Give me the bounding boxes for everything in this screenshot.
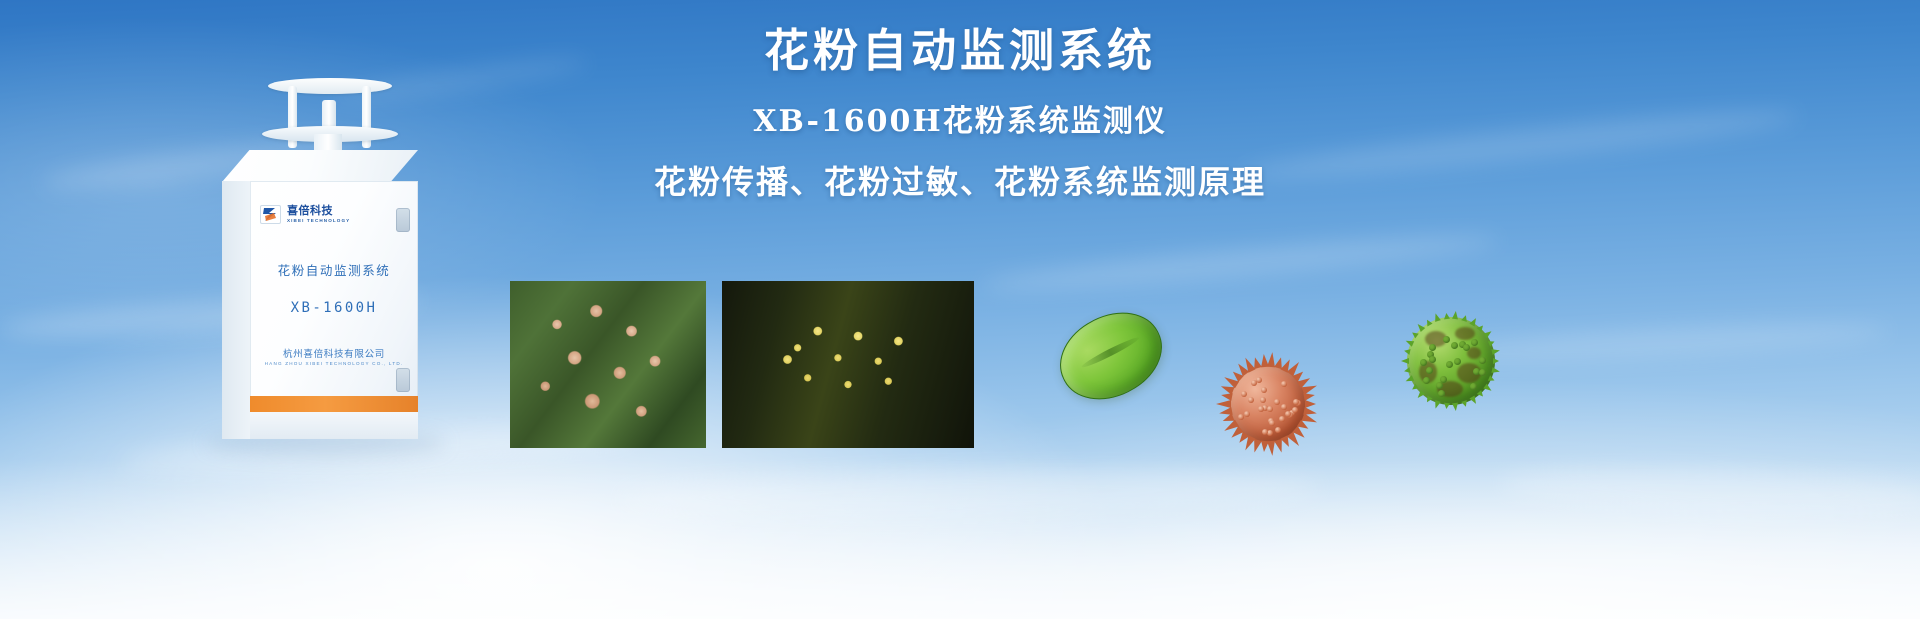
pollen-spike — [1403, 348, 1410, 355]
yellow-catkin-photo — [722, 281, 974, 448]
pollen-surface-bump — [1479, 369, 1486, 376]
pollen-surface-bump — [1446, 361, 1453, 368]
pollen-spike — [1483, 383, 1493, 393]
pollen-surface-bump — [1241, 391, 1247, 397]
pollen-surface-bump — [1269, 420, 1275, 426]
cloud-wisp — [980, 227, 1500, 298]
pollen-surface-bump — [1479, 357, 1486, 364]
banner-tagline: 花粉传播、花粉过敏、花粉系统监测原理 — [560, 162, 1360, 202]
pollen-surface-bump — [1438, 390, 1445, 397]
cabinet-latch-icon[interactable] — [396, 208, 410, 232]
device-company-cn: 杭州喜倍科技有限公司 — [250, 346, 418, 360]
pollen-surface-bump — [1258, 406, 1264, 412]
cabinet-latch-icon[interactable] — [396, 368, 410, 392]
air-intake-stack-icon — [268, 78, 392, 94]
pollen-spike — [1415, 390, 1425, 400]
pollen-surface-bump — [1443, 336, 1450, 343]
pollen-spike — [1452, 402, 1459, 411]
pollen-spike — [1403, 367, 1410, 374]
pollen-surface-bump — [1267, 430, 1273, 436]
device-model: XB-1600H — [250, 300, 418, 316]
pollen-surface-bump — [1248, 397, 1254, 403]
pollen-surface-bump — [1279, 416, 1285, 422]
pollen-furrow — [1080, 335, 1141, 371]
pollen-surface-bump — [1463, 344, 1470, 351]
cabinet-top-panel — [222, 150, 418, 182]
brand-logo: 喜倍科技 XIBEI TECHNOLOGY — [260, 205, 350, 224]
pollen-spike — [1488, 339, 1496, 347]
pollen-surface-bump — [1285, 411, 1291, 417]
pollen-surface-bump — [1293, 399, 1299, 405]
banner-title: 花粉自动监测系统 — [560, 24, 1360, 78]
brand-logo-text: 喜倍科技 XIBEI TECHNOLOGY — [287, 205, 350, 223]
pollen-spike — [1477, 390, 1485, 398]
red-spiky-pollen-grain — [1216, 352, 1320, 456]
pollen-spike — [1401, 358, 1409, 364]
pollen-spike — [1491, 348, 1500, 356]
pollen-spike — [1216, 400, 1231, 408]
pollen-surface-bump — [1451, 342, 1458, 349]
pollen-spike — [1424, 396, 1432, 404]
brand-name-en: XIBEI TECHNOLOGY — [287, 219, 350, 224]
pollen-surface-bump — [1292, 407, 1298, 413]
cabinet-side-panel — [222, 181, 252, 439]
pollen-surface-patch — [1455, 327, 1475, 340]
pollen-surface-bump — [1256, 377, 1262, 383]
pollen-spike — [1469, 316, 1478, 326]
pollen-surface-bump — [1281, 381, 1287, 387]
pollen-surface-bump — [1429, 356, 1436, 363]
headline-block: 花粉自动监测系统 XB-1600H花粉系统监测仪 花粉传播、花粉过敏、花粉系统监… — [560, 24, 1360, 202]
monitoring-instrument-cabinet: 喜倍科技 XIBEI TECHNOLOGY 花粉自动监测系统 XB-1600H … — [196, 78, 456, 438]
pollen-surface-bump — [1423, 377, 1430, 384]
pollen-surface-bump — [1267, 406, 1273, 412]
pollen-surface-bump — [1274, 399, 1280, 405]
cabinet-base-panel — [250, 412, 418, 439]
pollen-surface-bump — [1429, 344, 1436, 351]
device-company-en: HANG ZHOU XIBEI TECHNOLOGY CO., LTD. — [250, 361, 418, 366]
pollen-surface-bump — [1420, 359, 1427, 366]
pollen-spike — [1491, 367, 1500, 375]
banner-subtitle: XB-1600H花粉系统监测仪 — [560, 104, 1360, 140]
pollen-spike — [1433, 400, 1441, 409]
green-spiky-pollen-grain — [1400, 310, 1502, 412]
horizon-haze — [0, 459, 1920, 619]
pollen-surface-bump — [1281, 404, 1287, 410]
pollen-spike — [1443, 313, 1450, 320]
device-product-name: 花粉自动监测系统 — [250, 260, 418, 279]
pollen-surface-bump — [1471, 339, 1478, 346]
green-oval-pollen-grain — [1046, 296, 1177, 415]
cypress-pollen-cones-photo — [510, 281, 706, 448]
brand-name-cn: 喜倍科技 — [287, 205, 350, 216]
pollen-surface-bump — [1275, 427, 1281, 433]
pollen-spike — [1493, 358, 1499, 364]
pollen-surface-bump — [1244, 411, 1250, 417]
product-banner: 花粉自动监测系统 XB-1600H花粉系统监测仪 花粉传播、花粉过敏、花粉系统监… — [0, 0, 1920, 619]
pollen-surface-bump — [1454, 358, 1461, 365]
cabinet-orange-stripe — [250, 396, 418, 412]
pollen-surface-bump — [1436, 382, 1443, 389]
pollen-surface-bump — [1470, 383, 1477, 390]
pollen-surface-bump — [1260, 397, 1266, 403]
pollen-spike — [1443, 402, 1450, 409]
pollen-spike — [1469, 396, 1478, 406]
xibei-logo-icon — [260, 205, 281, 224]
pollen-surface-bump — [1261, 387, 1267, 393]
